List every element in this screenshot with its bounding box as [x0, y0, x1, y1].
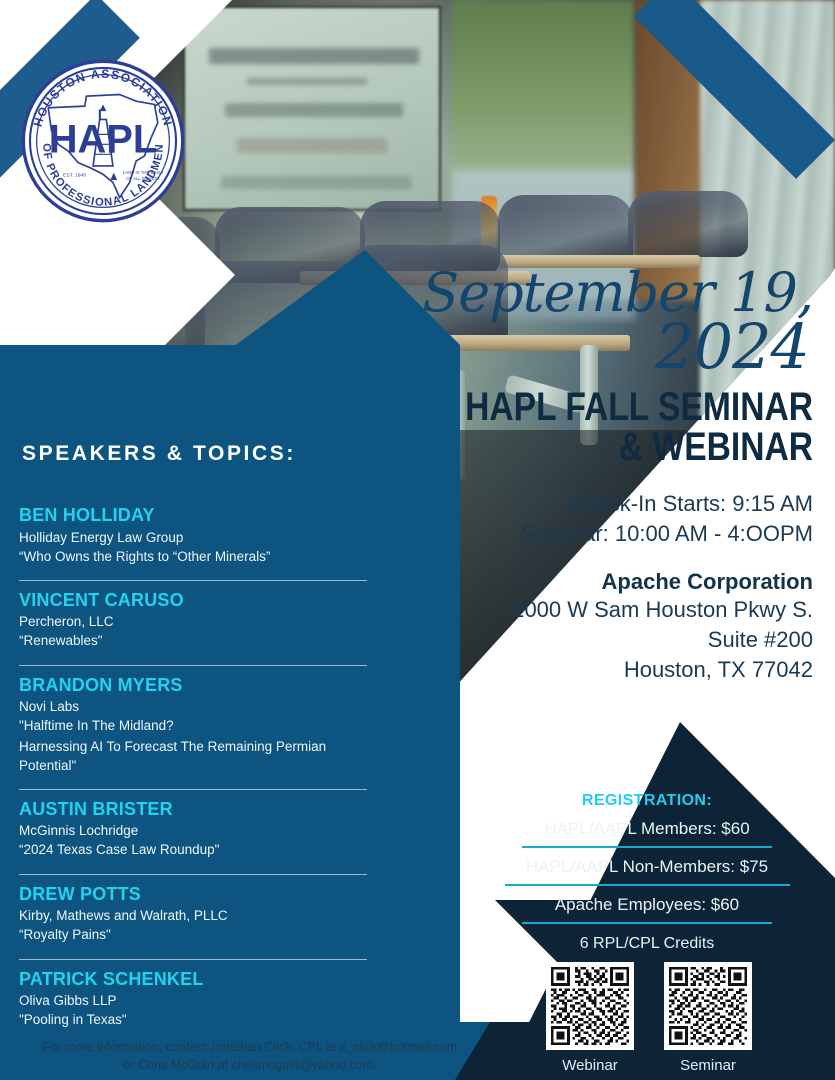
projection-screen-in-photo — [183, 6, 441, 211]
speaker-topic-line2: Harnessing AI To Forecast The Remaining … — [19, 738, 367, 774]
speaker-org: Oliva Gibbs LLP — [19, 993, 367, 1008]
event-date-line2: 2024 — [383, 318, 813, 375]
title-line-2: & WEBINAR — [452, 427, 813, 467]
title-line-1: HAPL FALL SEMINAR — [452, 387, 813, 427]
registration-row-apache: Apache Employees: $60 — [487, 886, 807, 922]
event-times: Check-In Starts: 9:15 AM Seminar: 10:00 … — [383, 489, 813, 550]
qr-seminar[interactable]: Seminar — [664, 962, 752, 1074]
registration-row-members: HAPL/AAPL Members: $60 — [487, 810, 807, 846]
speaker-name: VINCENT CARUSO — [19, 590, 367, 612]
speaker-divider — [19, 959, 367, 960]
speaker-divider — [19, 580, 367, 581]
speaker-divider — [19, 665, 367, 666]
speaker-item: BRANDON MYERS Novi Labs "Halftime In The… — [19, 675, 367, 781]
registration-title: REGISTRATION: — [487, 792, 807, 810]
speaker-org: Percheron, LLC — [19, 614, 367, 629]
speaker-name: PATRICK SCHENKEL — [19, 969, 367, 991]
footer-contact: For more information, contact Jonathan C… — [0, 1038, 500, 1074]
speakers-heading: SPEAKERS & TOPICS: — [22, 442, 296, 466]
footer-line-1: For more information, contact Jonathan C… — [0, 1038, 500, 1056]
speaker-item: BEN HOLLIDAY Holliday Energy Law Group “… — [19, 505, 367, 572]
speaker-topic: “Royalty Pains" — [19, 926, 367, 944]
speaker-item: DREW POTTS Kirby, Mathews and Walrath, P… — [19, 884, 367, 951]
venue-address: 2000 W Sam Houston Pkwy S. Suite #200 Ho… — [383, 595, 813, 684]
address-line-3: Houston, TX 77042 — [383, 655, 813, 685]
qr-webinar[interactable]: Webinar — [546, 962, 634, 1074]
speaker-org: Holliday Energy Law Group — [19, 530, 367, 545]
registration-block: REGISTRATION: HAPL/AAPL Members: $60 HAP… — [487, 792, 807, 953]
speaker-topic: “Renewables" — [19, 632, 367, 650]
logo-center-text: HAPL — [49, 118, 157, 162]
address-line-2: Suite #200 — [383, 625, 813, 655]
event-details-column: September 19, 2024 HAPL FALL SEMINAR & W… — [383, 268, 813, 684]
speaker-name: BEN HOLLIDAY — [19, 505, 367, 527]
speaker-topic: “2024 Texas Case Law Roundup" — [19, 841, 367, 859]
speaker-org: Kirby, Mathews and Walrath, PLLC — [19, 908, 367, 923]
logo-motto-line2: OF ALL WEALTH — [126, 176, 159, 181]
seminar-time: Seminar: 10:00 AM - 4:OOPM — [383, 519, 813, 549]
venue-name: Apache Corporation — [383, 569, 813, 595]
event-date: September 19, 2024 — [383, 268, 813, 375]
speaker-item: PATRICK SCHENKEL Oliva Gibbs LLP "Poolin… — [19, 969, 367, 1036]
registration-row-nonmembers: HAPL/AAPL Non-Members: $75 — [487, 848, 807, 884]
address-line-1: 2000 W Sam Houston Pkwy S. — [383, 595, 813, 625]
speaker-org: McGinnis Lochridge — [19, 823, 367, 838]
speaker-name: AUSTIN BRISTER — [19, 799, 367, 821]
speaker-topic: “Who Owns the Rights to “Other Minerals” — [19, 548, 367, 566]
qr-seminar-label: Seminar — [664, 1057, 752, 1074]
speakers-list: BEN HOLLIDAY Holliday Energy Law Group “… — [19, 505, 367, 1035]
speaker-divider — [19, 789, 367, 790]
qr-code-webinar-icon[interactable] — [546, 962, 634, 1050]
speaker-topic: "Pooling in Texas" — [19, 1011, 367, 1029]
page-title: HAPL FALL SEMINAR & WEBINAR — [452, 387, 813, 467]
checkin-time: Check-In Starts: 9:15 AM — [383, 489, 813, 519]
speaker-divider — [19, 874, 367, 875]
speaker-name: DREW POTTS — [19, 884, 367, 906]
speaker-item: AUSTIN BRISTER McGinnis Lochridge “2024 … — [19, 799, 367, 866]
speaker-name: BRANDON MYERS — [19, 675, 367, 697]
speaker-item: VINCENT CARUSO Percheron, LLC “Renewable… — [19, 590, 367, 657]
footer-line-2: or Chris McGuirt at chrismcguirt@yahoo.c… — [0, 1056, 500, 1074]
registration-credits: 6 RPL/CPL Credits — [487, 924, 807, 953]
logo-est-text: EST. 1946 — [63, 173, 86, 179]
qr-code-row: Webinar — [509, 962, 789, 1074]
hapl-logo: HAPL HOUSTON ASSOCIATION OF PROFESSIONAL… — [20, 58, 186, 224]
logo-motto-line1: LAND IS THE BASIS — [123, 170, 163, 175]
flyer-page: HAPL HOUSTON ASSOCIATION OF PROFESSIONAL… — [0, 0, 835, 1080]
speaker-topic: "Halftime In The Midland? — [19, 717, 367, 735]
qr-code-seminar-icon[interactable] — [664, 962, 752, 1050]
qr-webinar-label: Webinar — [546, 1057, 634, 1074]
speaker-org: Novi Labs — [19, 699, 367, 714]
